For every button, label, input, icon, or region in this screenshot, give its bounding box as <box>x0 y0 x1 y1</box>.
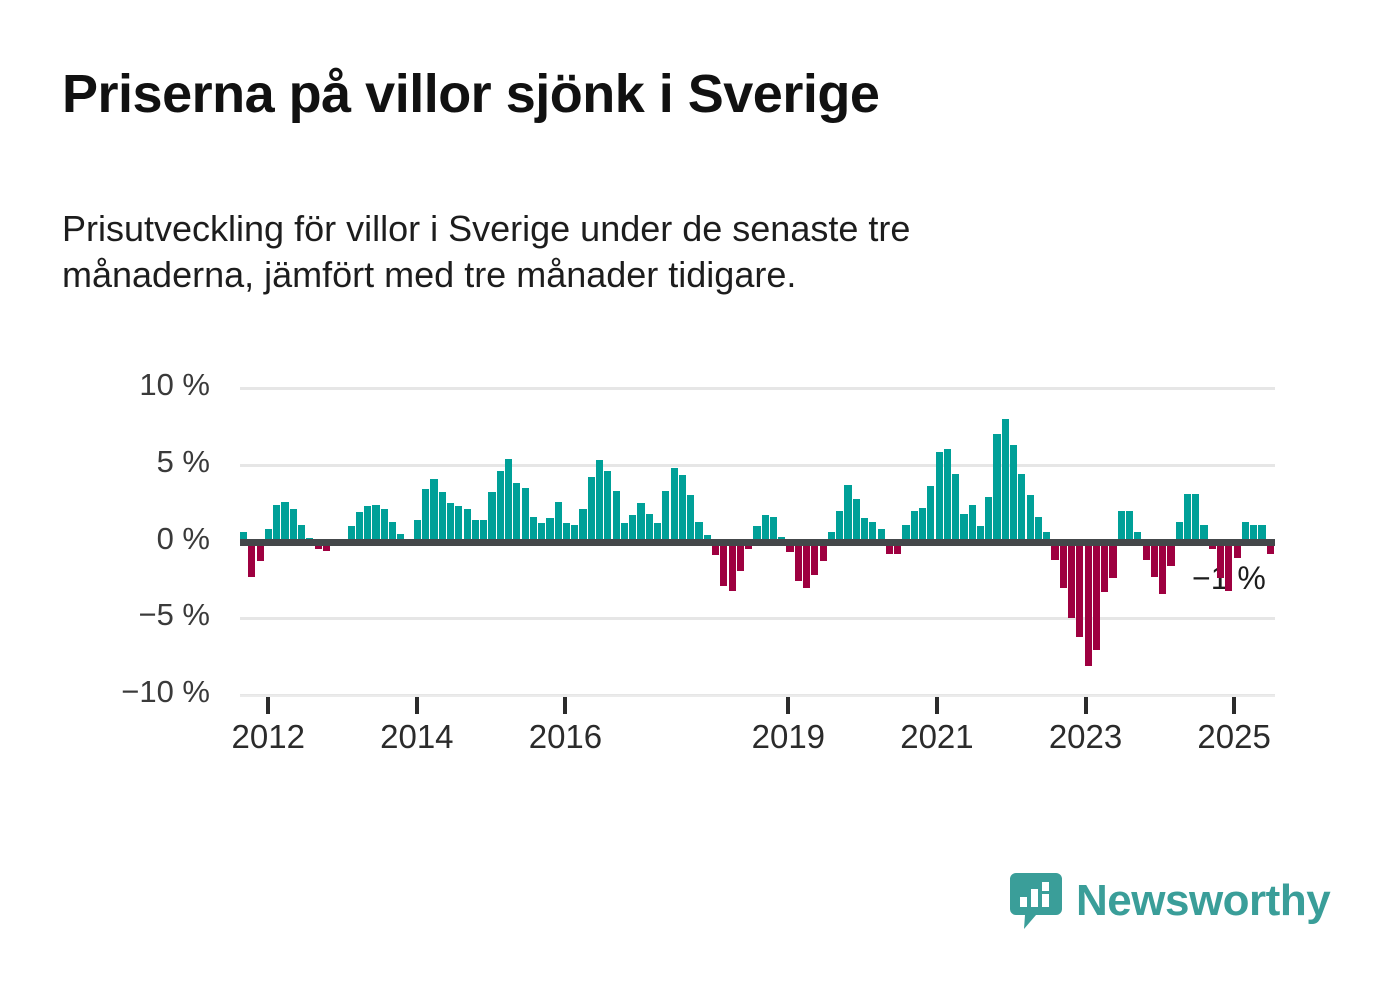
bar <box>911 511 918 542</box>
bar <box>1002 419 1009 542</box>
x-axis-tick-label: 2014 <box>380 718 453 756</box>
chart-page: Priserna på villor sjönk i Sverige Prisu… <box>0 0 1382 999</box>
x-axis-line <box>240 695 1275 697</box>
bar <box>281 502 288 542</box>
x-axis-tick-label: 2025 <box>1197 718 1270 756</box>
bar <box>464 509 471 541</box>
bar <box>803 542 810 588</box>
bar <box>430 479 437 542</box>
bar <box>522 488 529 542</box>
x-axis-tick <box>786 697 790 714</box>
bar <box>993 434 1000 541</box>
bar <box>985 497 992 542</box>
bar <box>811 542 818 576</box>
bar <box>497 471 504 542</box>
bar <box>969 505 976 542</box>
bar <box>1101 542 1108 593</box>
bar <box>604 471 611 542</box>
x-axis-tick-label: 2016 <box>529 718 602 756</box>
bar <box>1076 542 1083 637</box>
y-axis-tick-label: −5 % <box>50 597 210 633</box>
bar <box>1027 495 1034 541</box>
bar <box>1085 542 1092 666</box>
bar <box>513 483 520 541</box>
bar <box>505 459 512 542</box>
bar <box>1093 542 1100 651</box>
bar <box>720 542 727 587</box>
bar <box>952 474 959 542</box>
bar <box>1217 542 1224 579</box>
bar <box>679 475 686 541</box>
bar <box>662 491 669 542</box>
bar <box>596 460 603 541</box>
bar <box>488 492 495 541</box>
bar <box>936 452 943 541</box>
bar <box>927 486 934 541</box>
bar <box>381 509 388 541</box>
x-axis-tick <box>1084 697 1088 714</box>
bar <box>364 506 371 541</box>
bar <box>555 502 562 542</box>
bar <box>1184 494 1191 542</box>
x-axis-tick <box>1232 697 1236 714</box>
y-axis-tick-label: 5 % <box>50 444 210 480</box>
bar <box>687 495 694 541</box>
y-axis-tick-label: 0 % <box>50 521 210 557</box>
bar <box>844 485 851 542</box>
bar <box>372 505 379 542</box>
bar <box>273 505 280 542</box>
x-axis-tick-label: 2012 <box>232 718 305 756</box>
x-axis-tick <box>415 697 419 714</box>
bar <box>1225 542 1232 591</box>
bar <box>1010 445 1017 542</box>
newsworthy-logo: Newsworthy <box>1010 873 1330 929</box>
bar <box>439 492 446 541</box>
bar <box>455 506 462 541</box>
bar <box>1151 542 1158 577</box>
logo-wordmark: Newsworthy <box>1076 879 1330 923</box>
bar <box>1192 494 1199 542</box>
bar <box>422 489 429 541</box>
bar <box>1060 542 1067 588</box>
bar <box>1109 542 1116 579</box>
bar-chart: 10 %5 %0 %−5 %−10 % −1 % 201220142016201… <box>0 0 1382 999</box>
y-axis-tick-label: −10 % <box>50 674 210 710</box>
bar <box>836 511 843 542</box>
x-axis-tick <box>563 697 567 714</box>
bar <box>1159 542 1166 594</box>
bar <box>356 512 363 541</box>
bar <box>447 503 454 541</box>
bar <box>729 542 736 591</box>
bar <box>248 542 255 577</box>
x-axis-tick-label: 2019 <box>752 718 825 756</box>
y-axis-tick-label: 10 % <box>50 367 210 403</box>
bar <box>579 509 586 541</box>
bar <box>853 499 860 542</box>
bar <box>1126 511 1133 542</box>
bar <box>1018 474 1025 542</box>
bar <box>1068 542 1075 619</box>
bar <box>919 508 926 542</box>
bar <box>613 491 620 542</box>
x-axis-tick-label: 2023 <box>1049 718 1122 756</box>
bar <box>290 509 297 541</box>
plot-area <box>240 388 1275 695</box>
y-axis-labels: 10 %5 %0 %−5 %−10 % <box>40 388 210 695</box>
bar <box>588 477 595 541</box>
x-axis-tick-label: 2021 <box>900 718 973 756</box>
bar <box>671 468 678 542</box>
bar <box>737 542 744 571</box>
bar <box>795 542 802 582</box>
x-axis-tick <box>266 697 270 714</box>
bar <box>646 514 653 542</box>
bar <box>637 503 644 541</box>
bar <box>944 449 951 541</box>
bar <box>960 514 967 542</box>
x-axis-tick <box>935 697 939 714</box>
bar-chart-speech-bubble-icon <box>1010 873 1062 929</box>
bar <box>1118 511 1125 542</box>
zero-line <box>240 539 1275 546</box>
